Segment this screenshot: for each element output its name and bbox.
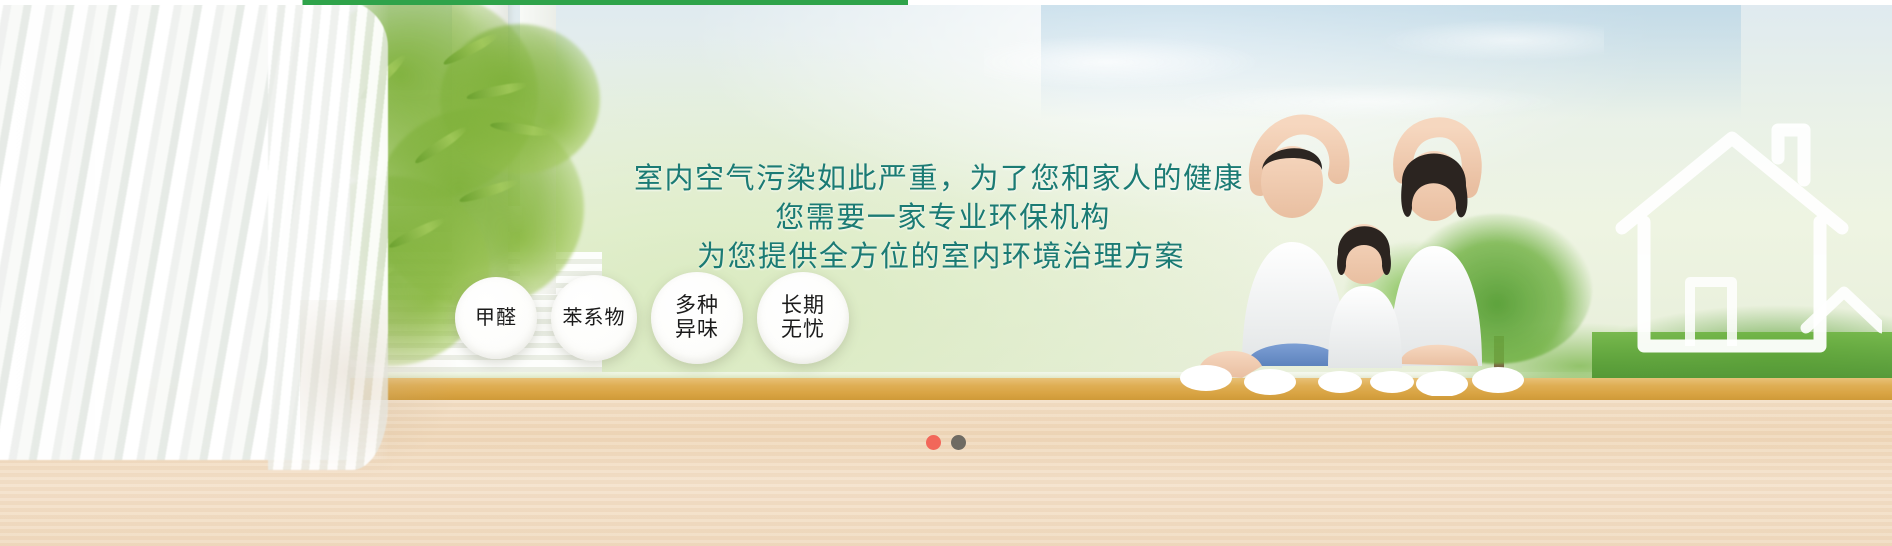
feature-badge-group: 甲醛 苯系物 多种 异味 长期 无忧 <box>455 272 849 364</box>
badge-long-term-worry-free-line2: 无忧 <box>781 318 825 342</box>
badge-multiple-odors-line1: 多种 <box>675 294 719 318</box>
carousel-dots <box>0 435 1892 450</box>
grass-strip <box>1592 332 1892 378</box>
garden-shrub <box>1402 214 1592 364</box>
badge-benzene-series-line1: 苯系物 <box>563 306 626 330</box>
header-accent-rule <box>0 0 1892 5</box>
badge-formaldehyde-line1: 甲醛 <box>475 306 517 330</box>
hero-banner: 室内空气污染如此严重，为了您和家人的健康 您需要一家专业环保机构 为您提供全方位… <box>0 0 1892 546</box>
window-post-right <box>520 0 556 294</box>
badge-formaldehyde[interactable]: 甲醛 <box>455 277 537 359</box>
curtain-shadow <box>300 300 460 480</box>
badge-long-term-worry-free[interactable]: 长期 无忧 <box>757 272 849 364</box>
badge-multiple-odors-line2: 异味 <box>675 318 719 342</box>
carousel-dot-1[interactable] <box>926 435 941 450</box>
cloud-wisps <box>984 8 1604 188</box>
badge-multiple-odors[interactable]: 多种 异味 <box>651 272 743 364</box>
badge-benzene-series[interactable]: 苯系物 <box>551 275 637 361</box>
window-post <box>452 0 508 300</box>
carousel-dot-2[interactable] <box>951 435 966 450</box>
badge-long-term-worry-free-line1: 长期 <box>781 294 825 318</box>
